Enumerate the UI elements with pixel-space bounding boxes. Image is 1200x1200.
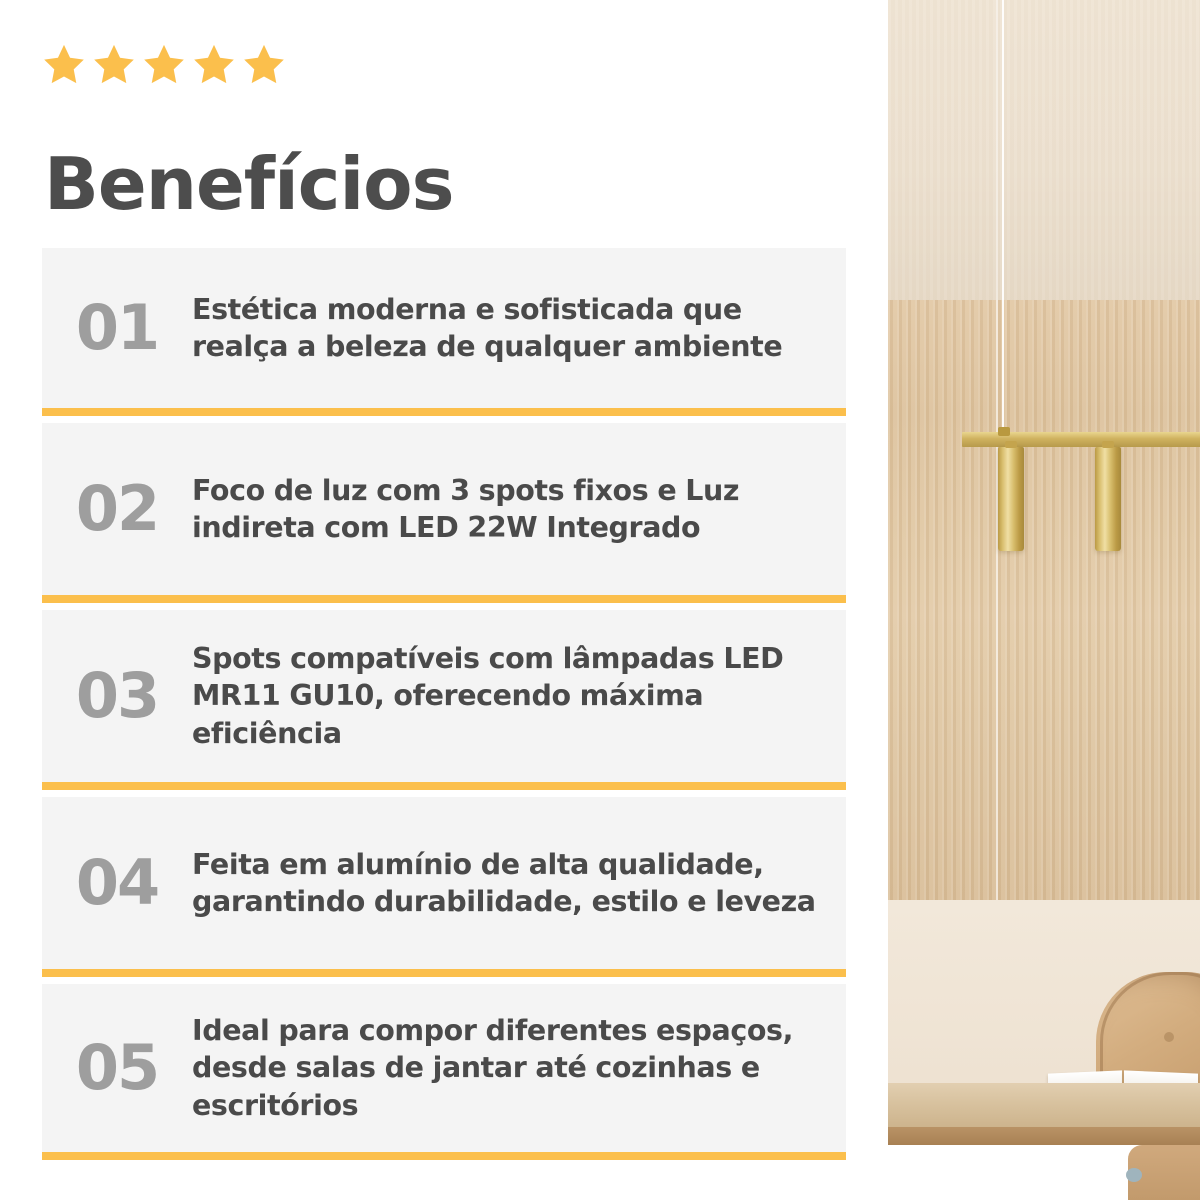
- benefit-item-04: 04 Feita em alumínio de alta qualidade, …: [42, 797, 846, 969]
- product-lifestyle-photo: [888, 0, 1200, 1200]
- pendant-spot-cylinder: [998, 447, 1024, 551]
- benefit-divider: [42, 1152, 846, 1160]
- benefit-item-03: 03 Spots compatíveis com lâmpadas LED MR…: [42, 610, 846, 782]
- wood-table-top: [888, 1083, 1200, 1127]
- benefit-text: Ideal para compor diferentes espaços, de…: [192, 1012, 846, 1123]
- benefit-text: Spots compatíveis com lâmpadas LED MR11 …: [192, 640, 846, 751]
- benefit-number: 03: [42, 665, 192, 727]
- benefit-gap: [42, 977, 846, 984]
- benefit-number: 04: [42, 852, 192, 914]
- pendant-mount-cap: [998, 427, 1010, 436]
- star-icon: [142, 42, 186, 86]
- wood-table-edge: [888, 1127, 1200, 1145]
- benefit-item-01: 01 Estética moderna e sofisticada que re…: [42, 248, 846, 408]
- rating-stars: [42, 42, 286, 86]
- benefit-number: 05: [42, 1037, 192, 1099]
- star-icon: [92, 42, 136, 86]
- page-title: Benefícios: [44, 148, 453, 220]
- benefit-number: 01: [42, 297, 192, 359]
- benefit-number: 02: [42, 478, 192, 540]
- star-icon: [42, 42, 86, 86]
- benefit-divider: [42, 408, 846, 416]
- benefit-item-05: 05 Ideal para compor diferentes espaços,…: [42, 984, 846, 1152]
- benefit-divider: [42, 969, 846, 977]
- wall-upper: [888, 0, 1200, 300]
- pendant-cable: [1002, 0, 1004, 440]
- benefit-gap: [42, 603, 846, 610]
- benefit-text: Estética moderna e sofisticada que realç…: [192, 291, 846, 365]
- benefit-item-02: 02 Foco de luz com 3 spots fixos e Luz i…: [42, 423, 846, 595]
- benefit-gap: [42, 790, 846, 797]
- chair-tuft: [1164, 1032, 1174, 1042]
- star-icon: [192, 42, 236, 86]
- wall-seam-upper: [996, 0, 998, 300]
- wood-paneling: [888, 300, 1200, 930]
- benefit-text: Foco de luz com 3 spots fixos e Luz indi…: [192, 472, 846, 546]
- content-column: Benefícios 01 Estética moderna e sofisti…: [0, 0, 888, 1200]
- benefit-divider: [42, 595, 846, 603]
- benefit-divider: [42, 782, 846, 790]
- benefits-page: Benefícios 01 Estética moderna e sofisti…: [0, 0, 1200, 1200]
- benefits-list: 01 Estética moderna e sofisticada que re…: [42, 248, 846, 1160]
- wood-panel-seam: [996, 300, 998, 930]
- star-icon: [242, 42, 286, 86]
- chair-caster: [1126, 1168, 1142, 1182]
- benefit-gap: [42, 416, 846, 423]
- pendant-spot-cylinder: [1095, 447, 1121, 551]
- benefit-text: Feita em alumínio de alta qualidade, gar…: [192, 846, 846, 920]
